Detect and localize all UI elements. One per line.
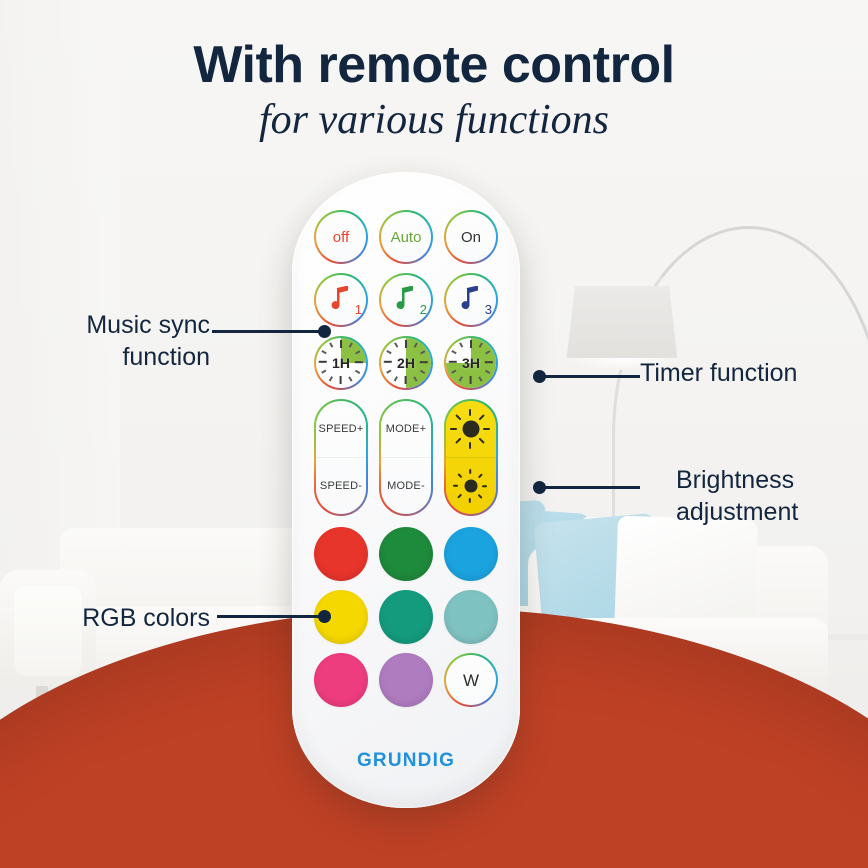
music-index: 3 xyxy=(485,302,492,317)
remote-button-brightness-up[interactable] xyxy=(446,401,496,458)
remote-button-off[interactable]: off xyxy=(314,210,368,264)
callout-line-2: function xyxy=(20,342,210,374)
color-white[interactable]: W xyxy=(444,653,498,707)
remote-row-colors-2 xyxy=(314,590,498,644)
remote-pill-mode: MODE+ MODE- xyxy=(379,399,433,516)
music-index: 2 xyxy=(420,302,427,317)
callout-timer-function: Timer function xyxy=(640,358,860,390)
brand-logo: GRUNDIG xyxy=(292,750,520,772)
callout-rgb-colors: RGB colors xyxy=(20,603,210,635)
callout-line-1: Brightness xyxy=(676,465,866,497)
remote-pill-speed: SPEED+ SPEED- xyxy=(314,399,368,516)
leader-dot-timer-function xyxy=(533,370,546,383)
remote-button-music-1[interactable]: 1 xyxy=(314,273,368,327)
remote-row-timer: 1H xyxy=(314,336,498,390)
button-label: MODE+ xyxy=(386,423,426,435)
remote-control: off Auto On 1 xyxy=(292,172,520,808)
remote-row-music: 1 2 xyxy=(314,273,498,327)
remote-button-timer-2h[interactable]: 2H xyxy=(379,336,433,390)
color-red[interactable] xyxy=(314,527,368,581)
remote-button-grid: off Auto On 1 xyxy=(314,210,498,716)
poster-canvas: With remote control for various function… xyxy=(0,0,868,868)
remote-button-on[interactable]: On xyxy=(444,210,498,264)
timer-label: 2H xyxy=(397,356,415,370)
music-note-icon: 3 xyxy=(456,286,486,314)
remote-row-colors-1 xyxy=(314,527,498,581)
leader-dot-music-sync xyxy=(318,325,331,338)
remote-button-auto[interactable]: Auto xyxy=(379,210,433,264)
leader-dot-brightness xyxy=(533,481,546,494)
remote-row-pills: SPEED+ SPEED- MODE+ MODE- xyxy=(314,399,498,516)
callout-line-2: adjustment xyxy=(676,497,866,529)
button-label: SPEED- xyxy=(320,480,362,492)
remote-button-timer-3h[interactable]: 3H xyxy=(444,336,498,390)
leader-line-timer-function xyxy=(540,375,640,378)
remote-button-music-3[interactable]: 3 xyxy=(444,273,498,327)
leader-line-music-sync xyxy=(212,330,324,333)
button-label: Auto xyxy=(391,230,422,245)
color-blue[interactable] xyxy=(444,527,498,581)
color-green[interactable] xyxy=(379,527,433,581)
music-index: 1 xyxy=(355,302,362,317)
remote-button-mode-up[interactable]: MODE+ xyxy=(381,401,431,458)
color-light-teal[interactable] xyxy=(444,590,498,644)
button-label: MODE- xyxy=(387,480,425,492)
callout-line-1: RGB colors xyxy=(20,603,210,635)
brightness-down-icon xyxy=(451,466,491,506)
remote-button-music-2[interactable]: 2 xyxy=(379,273,433,327)
lamp-shade xyxy=(566,286,678,364)
music-note-icon: 1 xyxy=(326,286,356,314)
color-pink[interactable] xyxy=(314,653,368,707)
timer-label: 3H xyxy=(462,356,480,370)
remote-button-timer-1h[interactable]: 1H xyxy=(314,336,368,390)
music-note-icon: 2 xyxy=(391,286,421,314)
heading-main: With remote control xyxy=(0,38,868,93)
callout-line-1: Music sync xyxy=(20,310,210,342)
remote-row-colors-3: W xyxy=(314,653,498,707)
timer-label: 1H xyxy=(332,356,350,370)
button-label: off xyxy=(333,230,349,245)
remote-pill-brightness xyxy=(444,399,498,516)
leader-line-rgb-colors xyxy=(217,615,324,618)
color-purple[interactable] xyxy=(379,653,433,707)
remote-row-power: off Auto On xyxy=(314,210,498,264)
button-label: SPEED+ xyxy=(319,423,364,435)
leader-line-brightness xyxy=(540,486,640,489)
leader-dot-rgb-colors xyxy=(318,610,331,623)
button-label: W xyxy=(463,672,479,689)
button-label: On xyxy=(461,230,481,245)
poster-heading: With remote control for various function… xyxy=(0,38,868,143)
heading-sub: for various functions xyxy=(0,97,868,143)
brightness-up-icon xyxy=(451,409,491,449)
callout-music-sync: Music sync function xyxy=(20,310,210,373)
color-teal[interactable] xyxy=(379,590,433,644)
remote-button-speed-up[interactable]: SPEED+ xyxy=(316,401,366,458)
remote-button-mode-down[interactable]: MODE- xyxy=(381,458,431,514)
callout-line-1: Timer function xyxy=(640,358,860,390)
remote-button-speed-down[interactable]: SPEED- xyxy=(316,458,366,514)
remote-button-brightness-down[interactable] xyxy=(446,458,496,514)
callout-brightness-adjustment: Brightness adjustment xyxy=(676,465,866,528)
